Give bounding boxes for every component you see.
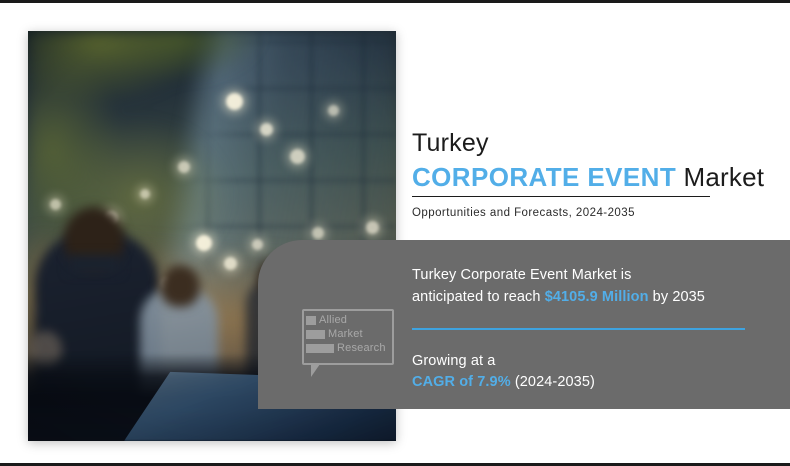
forecast-line-1: Turkey Corporate Event Market is: [412, 264, 752, 286]
logo-bubble-tail-icon: [311, 364, 320, 377]
cagr-line: CAGR of 7.9% (2024-2035): [412, 372, 752, 394]
title-market-highlight: CORPORATE EVENT: [412, 162, 676, 192]
forecast-line-2: anticipated to reach $4105.9 Million by …: [412, 286, 752, 308]
logo-bar-3: [306, 344, 334, 353]
title-market-suffix: Market: [676, 162, 764, 192]
forecast-value: $4105.9 Million: [545, 289, 649, 305]
allied-market-research-logo: Allied Market Research: [302, 309, 394, 365]
title-divider: [412, 196, 710, 197]
logo-text-line-2: Market: [328, 328, 363, 340]
subtitle: Opportunities and Forecasts, 2024-2035: [412, 207, 635, 219]
logo-text-line-3: Research: [337, 342, 386, 354]
logo-text-line-1: Allied: [319, 314, 347, 326]
title-region: Turkey: [412, 129, 760, 158]
title-market-line: CORPORATE EVENT Market: [412, 162, 760, 193]
forecast-statement: Turkey Corporate Event Market is anticip…: [412, 264, 752, 308]
page-title: Turkey CORPORATE EVENT Market: [412, 129, 760, 193]
cagr-period: (2024-2035): [511, 374, 595, 390]
cagr-value: CAGR of 7.9%: [412, 374, 511, 390]
logo-bar-1: [306, 316, 316, 325]
stats-divider: [412, 328, 745, 330]
cagr-statement: Growing at a CAGR of 7.9% (2024-2035): [412, 351, 752, 394]
forecast-prefix-text: anticipated to reach: [412, 289, 545, 305]
market-report-banner: Allied Market Research Turkey CORPORATE …: [0, 0, 790, 466]
forecast-suffix-text: by 2035: [649, 289, 705, 305]
logo-bar-2: [306, 330, 325, 339]
cagr-label: Growing at a: [412, 351, 752, 372]
